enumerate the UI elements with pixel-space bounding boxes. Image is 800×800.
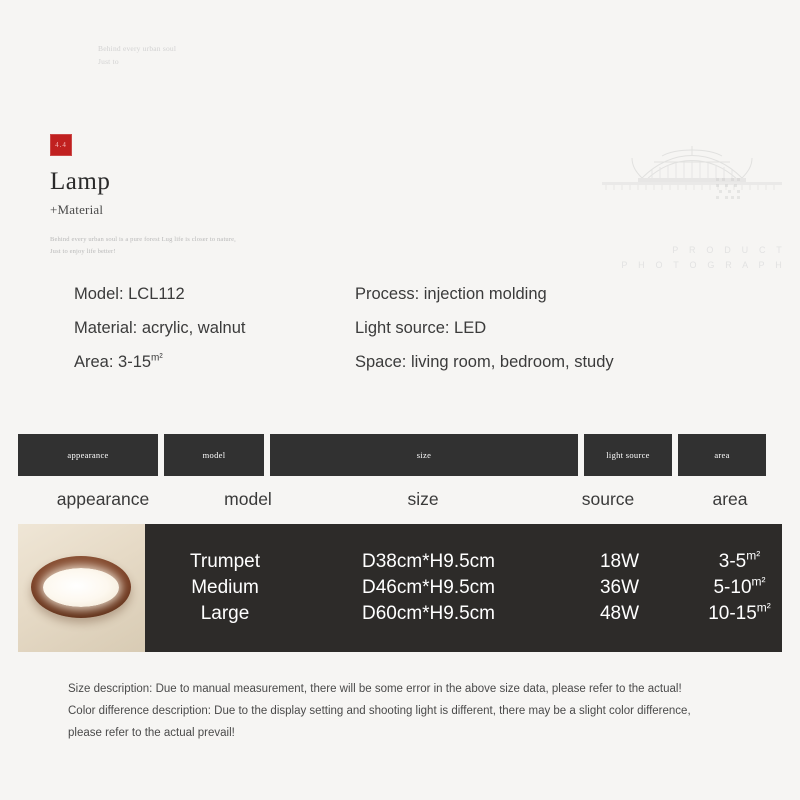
table-column-source: 18W 36W 48W: [552, 549, 687, 627]
table-row: D60cm*H9.5cm: [305, 601, 552, 627]
qr-code-mark-icon: [716, 178, 742, 204]
spec-light-source: Light source: LED: [355, 316, 734, 340]
product-photo-cell[interactable]: [18, 524, 145, 652]
spec-area: Area: 3-15m²: [74, 350, 355, 374]
specification-list: Model: LCL112 Process: injection molding…: [74, 282, 734, 374]
photograph-line-1: P R O D U C T: [621, 243, 786, 258]
spec-area-unit: m²: [151, 353, 163, 364]
table-row: 18W: [552, 549, 687, 575]
table-row: Trumpet: [145, 549, 305, 575]
column-header-row: appearance model size source area: [18, 482, 782, 516]
tab-strip: appearance model size light source area: [18, 434, 782, 476]
product-photograph-label: P R O D U C T P H O T O G R A P H: [621, 243, 786, 273]
specification-table: Trumpet Medium Large D38cm*H9.5cm D46cm*…: [18, 524, 782, 652]
table-column-area: 3-5m² 5-10m² 10-15m²: [687, 549, 792, 627]
table-body: Trumpet Medium Large D38cm*H9.5cm D46cm*…: [145, 524, 792, 652]
column-header-source: source: [538, 489, 678, 510]
footer-size-description: Size description: Due to manual measurem…: [68, 678, 758, 700]
lamp-ring: [31, 556, 131, 618]
tab-size[interactable]: size: [270, 434, 578, 476]
column-header-size: size: [308, 489, 538, 510]
lamp-diffuser: [43, 568, 119, 607]
table-row: 3-5m²: [687, 549, 792, 575]
table-row: 48W: [552, 601, 687, 627]
photograph-line-2: P H O T O G R A P H: [621, 258, 786, 273]
lamp-photo-icon: [18, 524, 145, 652]
spec-space: Space: living room, bedroom, study: [355, 350, 734, 374]
tab-light-source[interactable]: light source: [584, 434, 672, 476]
top-tagline: Behind every urban soul Just to: [98, 42, 176, 68]
table-row: 5-10m²: [687, 575, 792, 601]
column-header-area: area: [678, 489, 782, 510]
spec-process: Process: injection molding: [355, 282, 734, 306]
spec-material: Material: acrylic, walnut: [74, 316, 355, 340]
tab-model[interactable]: model: [164, 434, 264, 476]
table-row: Large: [145, 601, 305, 627]
table-column-size: D38cm*H9.5cm D46cm*H9.5cm D60cm*H9.5cm: [305, 549, 552, 627]
footer-notes: Size description: Due to manual measurem…: [68, 678, 758, 744]
table-column-model: Trumpet Medium Large: [145, 549, 305, 627]
table-row: D46cm*H9.5cm: [305, 575, 552, 601]
table-row: D38cm*H9.5cm: [305, 549, 552, 575]
column-header-appearance: appearance: [18, 489, 188, 510]
table-row: 10-15m²: [687, 601, 792, 627]
table-row: 36W: [552, 575, 687, 601]
column-header-model: model: [188, 489, 308, 510]
table-row: Medium: [145, 575, 305, 601]
brand-block: 4.4 Lamp +Material Behind every urban so…: [50, 134, 450, 257]
tab-appearance[interactable]: appearance: [18, 434, 158, 476]
footer-color-description-cont: please refer to the actual prevail!: [68, 722, 758, 744]
brand-title: Lamp: [50, 168, 450, 196]
pavilion-illustration-icon: [602, 132, 782, 202]
footer-color-description: Color difference description: Due to the…: [68, 700, 758, 722]
brand-description: Behind every urban soul is a pure forest…: [50, 234, 450, 257]
brand-badge: 4.4: [50, 134, 72, 156]
brand-subtitle: +Material: [50, 202, 450, 218]
tab-area[interactable]: area: [678, 434, 766, 476]
spec-model: Model: LCL112: [74, 282, 355, 306]
